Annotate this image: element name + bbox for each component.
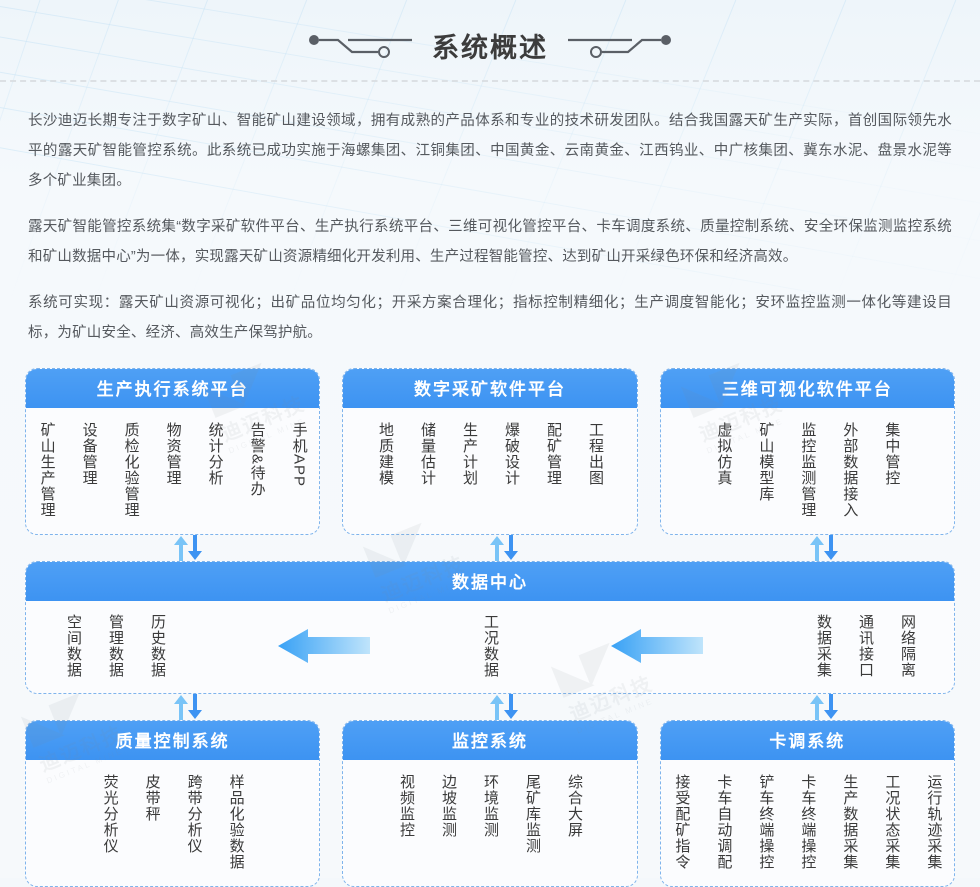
connectors-bottom	[25, 694, 955, 720]
card-item[interactable]: 配矿管理	[543, 422, 563, 486]
flow-gap-1	[178, 629, 469, 663]
circuit-line-right-icon	[562, 31, 672, 61]
card-item[interactable]: 工程出图	[585, 422, 605, 486]
card-item[interactable]: 设备管理	[79, 422, 99, 486]
card-item[interactable]: 空间数据	[63, 614, 83, 678]
data-center-left-group: 空间数据 管理数据 历史数据	[52, 614, 178, 678]
card-title: 三维可视化软件平台	[660, 368, 955, 408]
connectors-top	[25, 535, 955, 561]
card-title: 数据中心	[25, 561, 955, 601]
card-item[interactable]: 集中管控	[881, 422, 901, 486]
card-body: 视频监控 边坡监测 环境监测 尾矿库监测 综合大屏	[343, 760, 636, 872]
card-body: 地质建模 储量估计 生产计划 爆破设计 配矿管理 工程出图	[343, 408, 636, 520]
circuit-line-left-icon	[308, 31, 418, 61]
flow-left-arrow-icon	[278, 629, 370, 663]
card-item[interactable]: 监控监测管理	[797, 422, 817, 518]
card-title: 质量控制系统	[25, 720, 320, 760]
bidirectional-arrow-icon	[171, 535, 205, 561]
card-item[interactable]: 生产计划	[459, 422, 479, 486]
card-item[interactable]: 外部数据接入	[839, 422, 859, 518]
card-item[interactable]: 储量估计	[417, 422, 437, 486]
card-digital-mining-software-platform[interactable]: 数字采矿软件平台 地质建模 储量估计 生产计划 爆破设计 配矿管理 工程出图	[342, 368, 637, 535]
card-body: 接受配矿指令 卡车自动调配 铲车终端操控 卡车终端操控 生产数据采集 工况状态采…	[661, 760, 954, 886]
card-item[interactable]: 综合大屏	[564, 774, 584, 838]
bidirectional-arrow-icon	[807, 694, 841, 720]
diagram-top-row: 生产执行系统平台 矿山生产管理 设备管理 质检化验管理 物资管理 统计分析 告警…	[25, 368, 955, 535]
bidirectional-arrow-icon	[807, 535, 841, 561]
card-item[interactable]: 统计分析	[205, 422, 225, 486]
title-row: 系统概述	[0, 0, 980, 65]
card-item[interactable]: 告警&待办	[247, 422, 267, 497]
card-item[interactable]: 运行轨迹采集	[923, 774, 943, 870]
card-item[interactable]: 荧光分析仪	[100, 774, 120, 854]
card-body: 虚拟仿真 矿山模型库 监控监测管理 外部数据接入 集中管控	[661, 408, 954, 534]
card-item[interactable]: 卡车自动调配	[713, 774, 733, 870]
card-production-execution-platform[interactable]: 生产执行系统平台 矿山生产管理 设备管理 质检化验管理 物资管理 统计分析 告警…	[25, 368, 320, 535]
card-item[interactable]: 虚拟仿真	[713, 422, 733, 486]
card-item[interactable]: 跨带分析仪	[184, 774, 204, 854]
flow-gap-2	[511, 629, 802, 663]
diagram-bottom-row: 质量控制系统 荧光分析仪 皮带秤 跨带分析仪 样品化验数据 监控系统 视频监控 …	[25, 720, 955, 887]
card-title: 监控系统	[342, 720, 637, 760]
bidirectional-arrow-icon	[171, 694, 205, 720]
intro-paragraph-3: 系统可实现：露天矿山资源可视化；出矿品位均匀化；开采方案合理化；指标控制精细化；…	[28, 288, 952, 348]
card-item[interactable]: 通讯接口	[855, 614, 875, 678]
card-item[interactable]: 质检化验管理	[121, 422, 141, 518]
card-item[interactable]: 历史数据	[147, 614, 167, 678]
page-header: 系统概述	[0, 0, 980, 92]
architecture-diagram: 生产执行系统平台 矿山生产管理 设备管理 质检化验管理 物资管理 统计分析 告警…	[0, 364, 980, 887]
card-monitoring-system[interactable]: 监控系统 视频监控 边坡监测 环境监测 尾矿库监测 综合大屏	[342, 720, 637, 887]
card-item[interactable]: 边坡监测	[438, 774, 458, 838]
intro-paragraph-2: 露天矿智能管控系统集“数字采矿软件平台、生产执行系统平台、三维可视化管控平台、卡…	[28, 212, 952, 272]
card-item[interactable]: 皮带秤	[142, 774, 162, 822]
card-item[interactable]: 视频监控	[396, 774, 416, 838]
card-item[interactable]: 工况数据	[480, 614, 500, 678]
card-item[interactable]: 卡车终端操控	[797, 774, 817, 870]
card-item[interactable]: 网络隔离	[897, 614, 917, 678]
card-item[interactable]: 接受配矿指令	[671, 774, 691, 870]
card-3d-visualization-software-platform[interactable]: 三维可视化软件平台 虚拟仿真 矿山模型库 监控监测管理 外部数据接入 集中管控	[660, 368, 955, 535]
card-item[interactable]: 矿山生产管理	[37, 422, 57, 518]
card-item[interactable]: 矿山模型库	[755, 422, 775, 502]
card-title: 卡调系统	[660, 720, 955, 760]
card-item[interactable]: 手机APP	[289, 422, 309, 487]
header-divider	[0, 80, 980, 82]
card-item[interactable]: 地质建模	[375, 422, 395, 486]
card-item[interactable]: 物资管理	[163, 422, 183, 486]
card-body: 矿山生产管理 设备管理 质检化验管理 物资管理 统计分析 告警&待办 手机APP	[26, 408, 319, 534]
card-data-center[interactable]: 数据中心 空间数据 管理数据 历史数据	[25, 561, 955, 694]
intro-section: 长沙迪迈长期专注于数字矿山、智能矿山建设领域，拥有成熟的产品体系和专业的技术研发…	[0, 92, 980, 348]
bidirectional-arrow-icon	[487, 535, 521, 561]
intro-paragraph-1: 长沙迪迈长期专注于数字矿山、智能矿山建设领域，拥有成熟的产品体系和专业的技术研发…	[28, 106, 952, 196]
card-item[interactable]: 工况状态采集	[881, 774, 901, 870]
card-truck-dispatch-system[interactable]: 卡调系统 接受配矿指令 卡车自动调配 铲车终端操控 卡车终端操控 生产数据采集 …	[660, 720, 955, 887]
card-body: 荧光分析仪 皮带秤 跨带分析仪 样品化验数据	[26, 760, 319, 886]
card-title: 生产执行系统平台	[25, 368, 320, 408]
data-center-right-group: 数据采集 通讯接口 网络隔离	[802, 614, 928, 678]
bidirectional-arrow-icon	[487, 694, 521, 720]
card-item[interactable]: 尾矿库监测	[522, 774, 542, 854]
card-item[interactable]: 管理数据	[105, 614, 125, 678]
card-item[interactable]: 数据采集	[813, 614, 833, 678]
page-title: 系统概述	[432, 26, 548, 65]
card-item[interactable]: 样品化验数据	[226, 774, 246, 870]
flow-left-arrow-icon	[611, 629, 703, 663]
data-center-middle-group: 工况数据	[469, 614, 511, 678]
card-title: 数字采矿软件平台	[342, 368, 637, 408]
card-quality-control-system[interactable]: 质量控制系统 荧光分析仪 皮带秤 跨带分析仪 样品化验数据	[25, 720, 320, 887]
card-item[interactable]: 爆破设计	[501, 422, 521, 486]
card-body: 空间数据 管理数据 历史数据	[26, 601, 954, 693]
card-item[interactable]: 生产数据采集	[839, 774, 859, 870]
card-item[interactable]: 环境监测	[480, 774, 500, 838]
card-item[interactable]: 铲车终端操控	[755, 774, 775, 870]
